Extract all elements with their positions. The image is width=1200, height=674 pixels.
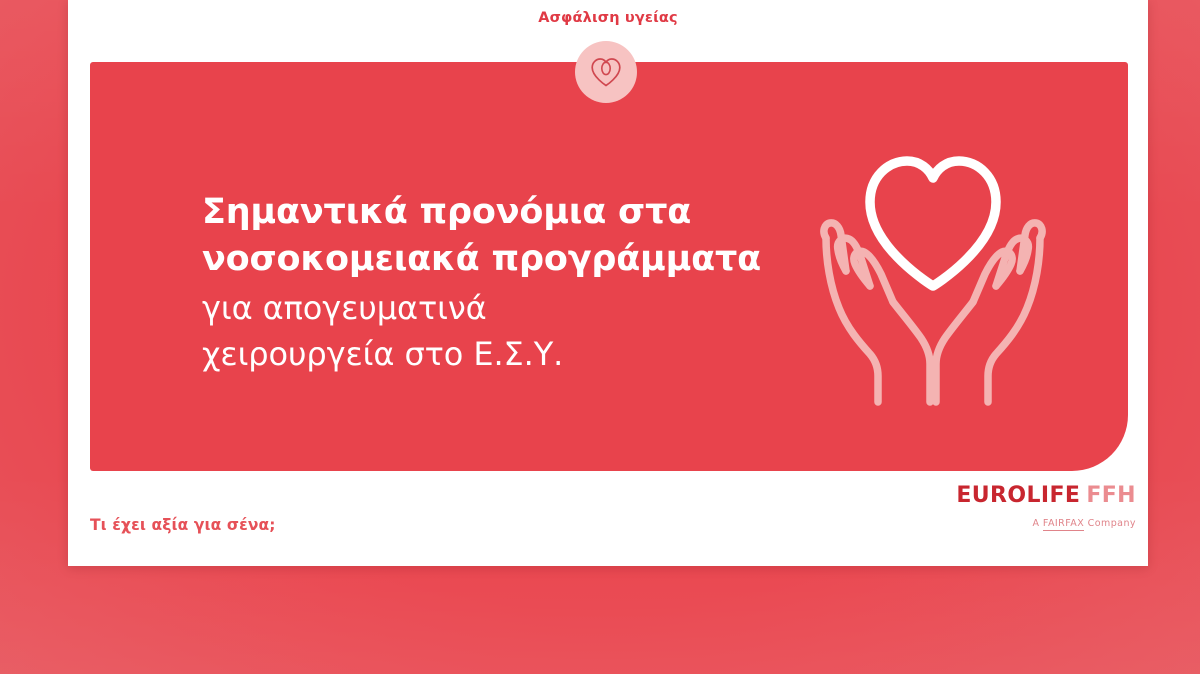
footer-question-text: Τι έχει αξία για σένα; — [90, 516, 276, 534]
brand-name: EUROLIFE — [956, 483, 1080, 508]
eurolife-logo: EUROLIFEFFH A FAIRFAX Company — [956, 485, 1136, 529]
headline-line-2: νοσοκομειακά προγράμματα — [202, 236, 802, 283]
subheadline-line-1: για απογευματινά — [202, 287, 802, 329]
subheadline-line-2: χειρουργεία στο Ε.Σ.Υ. — [202, 333, 802, 375]
hands-holding-heart-icon — [808, 140, 1058, 410]
heart-ribbon-icon — [575, 41, 637, 103]
hero-card: Σημαντικά προνόμια στα νοσοκομειακά προγ… — [90, 62, 1128, 471]
brand-tagline-name: FAIRFAX — [1043, 518, 1084, 531]
kicker-label: Ασφάλιση υγείας — [68, 10, 1148, 26]
slide-canvas: Ασφάλιση υγείας Σημαντικά προνόμια στα ν… — [68, 0, 1148, 566]
hero-copy-block: Σημαντικά προνόμια στα νοσοκομειακά προγ… — [202, 189, 802, 375]
brand-suffix: FFH — [1086, 483, 1136, 508]
brand-tagline: A FAIRFAX Company — [956, 518, 1136, 529]
headline-line-1: Σημαντικά προνόμια στα — [202, 189, 802, 236]
brand-wordmark: EUROLIFEFFH — [956, 485, 1136, 507]
brand-tagline-suffix: Company — [1088, 518, 1136, 529]
brand-tagline-prefix: A — [1032, 518, 1039, 529]
